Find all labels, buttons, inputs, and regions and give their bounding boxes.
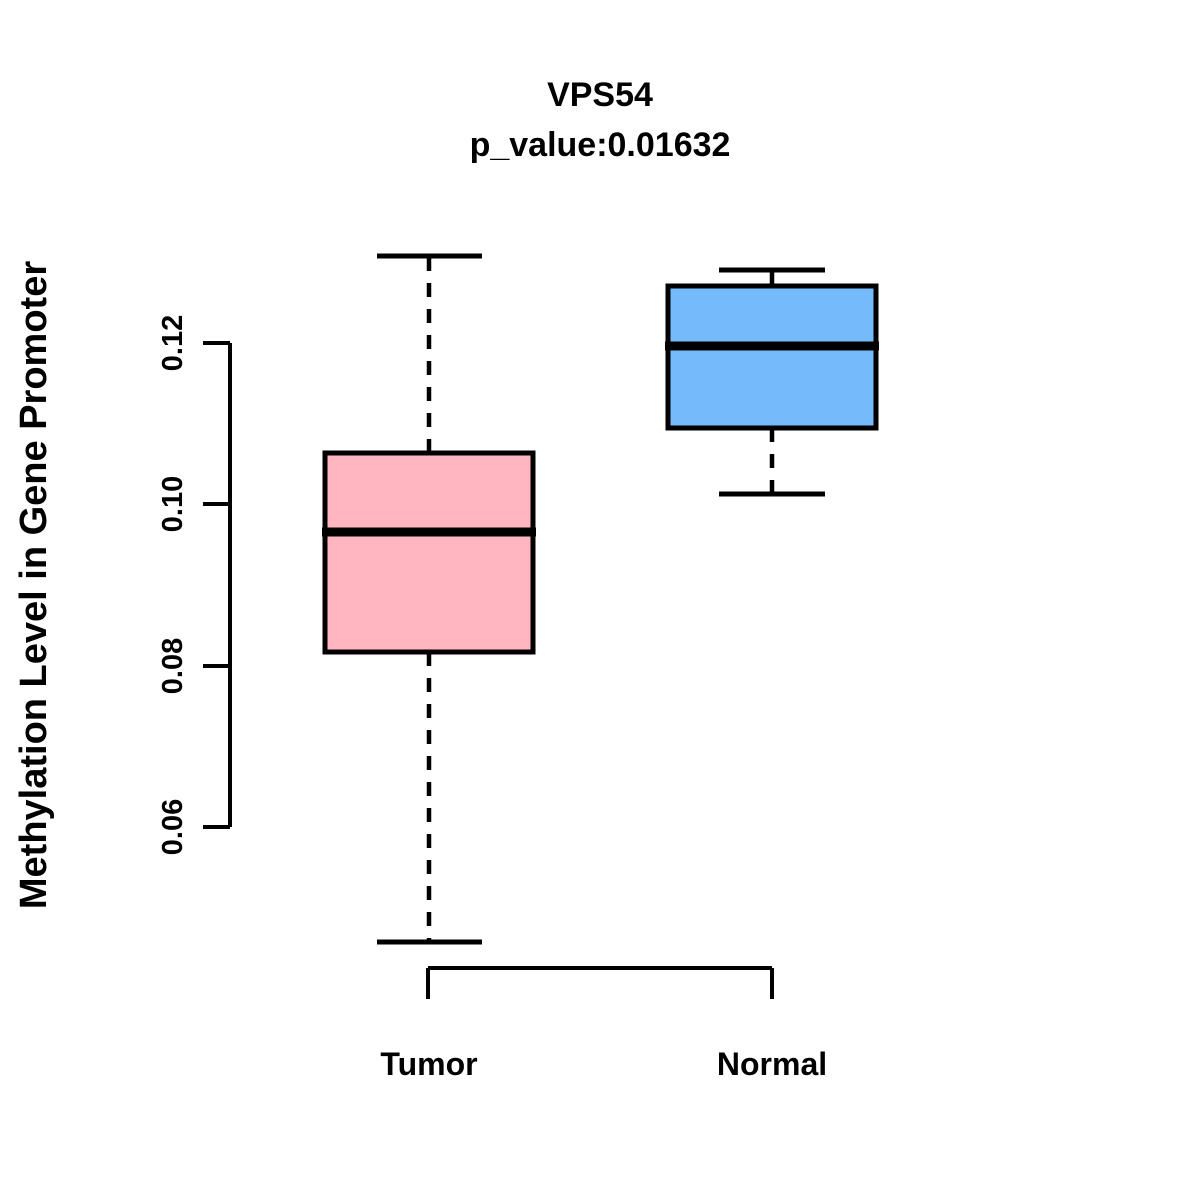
y-axis-tick-label-0.06: 0.06 bbox=[157, 799, 189, 855]
x-axis bbox=[428, 968, 772, 999]
y-axis-tick-label-0.10: 0.10 bbox=[157, 476, 189, 532]
plot-canvas: VPS54 p_value:0.01632 Methylation Level … bbox=[0, 0, 1200, 1200]
boxplot-group-normal bbox=[665, 270, 879, 494]
box-tumor bbox=[325, 453, 533, 652]
boxplot-figure: VPS54 p_value:0.01632 Methylation Level … bbox=[0, 0, 1200, 1200]
y-axis-tick-label-0.12: 0.12 bbox=[157, 315, 189, 371]
x-axis-category-label-normal: Normal bbox=[717, 1046, 827, 1082]
y-axis: 0.12 0.10 0.08 0.06 bbox=[157, 315, 230, 855]
y-axis-title: Methylation Level in Gene Promoter bbox=[13, 261, 55, 909]
box-normal bbox=[668, 286, 876, 428]
y-axis-tick-label-0.08: 0.08 bbox=[157, 638, 189, 694]
chart-title: VPS54 bbox=[547, 76, 653, 114]
boxplot-group-tumor bbox=[322, 256, 536, 942]
x-axis-category-label-tumor: Tumor bbox=[380, 1046, 477, 1082]
chart-subtitle: p_value:0.01632 bbox=[470, 126, 731, 164]
